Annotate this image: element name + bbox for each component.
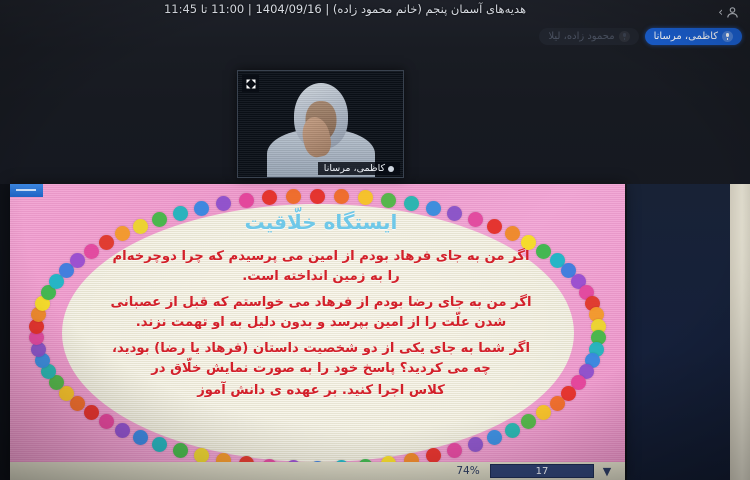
chevron-left-icon: ‹ <box>718 5 723 19</box>
slide-toolbar: 74% 17 ▼ <box>10 462 625 480</box>
participant-chip-active[interactable]: کاظمی، مرسانا <box>645 28 742 45</box>
mic-icon <box>388 166 394 172</box>
expand-fullscreen-icon[interactable] <box>242 75 259 92</box>
participant-chip-row: کاظمی، مرسانا محمود زاده، لیلا <box>539 28 742 45</box>
screen-left-edge <box>0 184 10 480</box>
slide-paragraph-2: اگر من به جای رضا بودم از فرهاد می خواست… <box>106 293 536 333</box>
page-number-field[interactable]: 17 <box>490 464 594 478</box>
slide-paragraph-3: اگر شما به جای یکی از دو شخصیت داستان (ف… <box>106 339 536 379</box>
slide-paragraph-1: اگر من به جای فرهاد بودم از امین می پرسی… <box>106 247 536 287</box>
right-dark-panel <box>627 184 730 480</box>
top-bar: هدیه‌های آسمان پنجم (خانم محمود زاده) | … <box>0 0 750 50</box>
chevron-down-icon[interactable]: ▼ <box>599 466 615 477</box>
participant-chip-label: کاظمی، مرسانا <box>654 31 718 42</box>
session-title: هدیه‌های آسمان پنجم (خانم محمود زاده) | … <box>0 2 690 16</box>
video-tile[interactable]: کاظمی، مرسانا <box>237 70 404 178</box>
slide-title: ایستگاه خلّاقیت <box>62 210 580 234</box>
video-tile-label: کاظمی، مرسانا <box>324 163 385 174</box>
video-tile-name: کاظمی، مرسانا <box>318 162 400 175</box>
mic-icon <box>722 31 733 42</box>
desk-edge <box>730 184 750 480</box>
participants-icon[interactable]: ‹ <box>706 3 740 21</box>
mic-icon <box>619 31 630 42</box>
slide-content: ایستگاه خلّاقیت اگر من به جای فرهاد بودم… <box>56 210 586 458</box>
screenshot-root: هدیه‌های آسمان پنجم (خانم محمود زاده) | … <box>0 0 750 480</box>
slide-corner-tab[interactable] <box>10 184 43 197</box>
participant-chip-idle[interactable]: محمود زاده، لیلا <box>539 28 638 45</box>
slide-paragraph-4: کلاس اجرا کنید. بر عهده ی دانش آموز <box>106 381 536 401</box>
shared-slide[interactable]: ایستگاه خلّاقیت اگر من به جای فرهاد بودم… <box>10 184 625 480</box>
zoom-level[interactable]: 74% <box>451 465 485 477</box>
participant-chip-label: محمود زاده، لیلا <box>548 31 614 42</box>
